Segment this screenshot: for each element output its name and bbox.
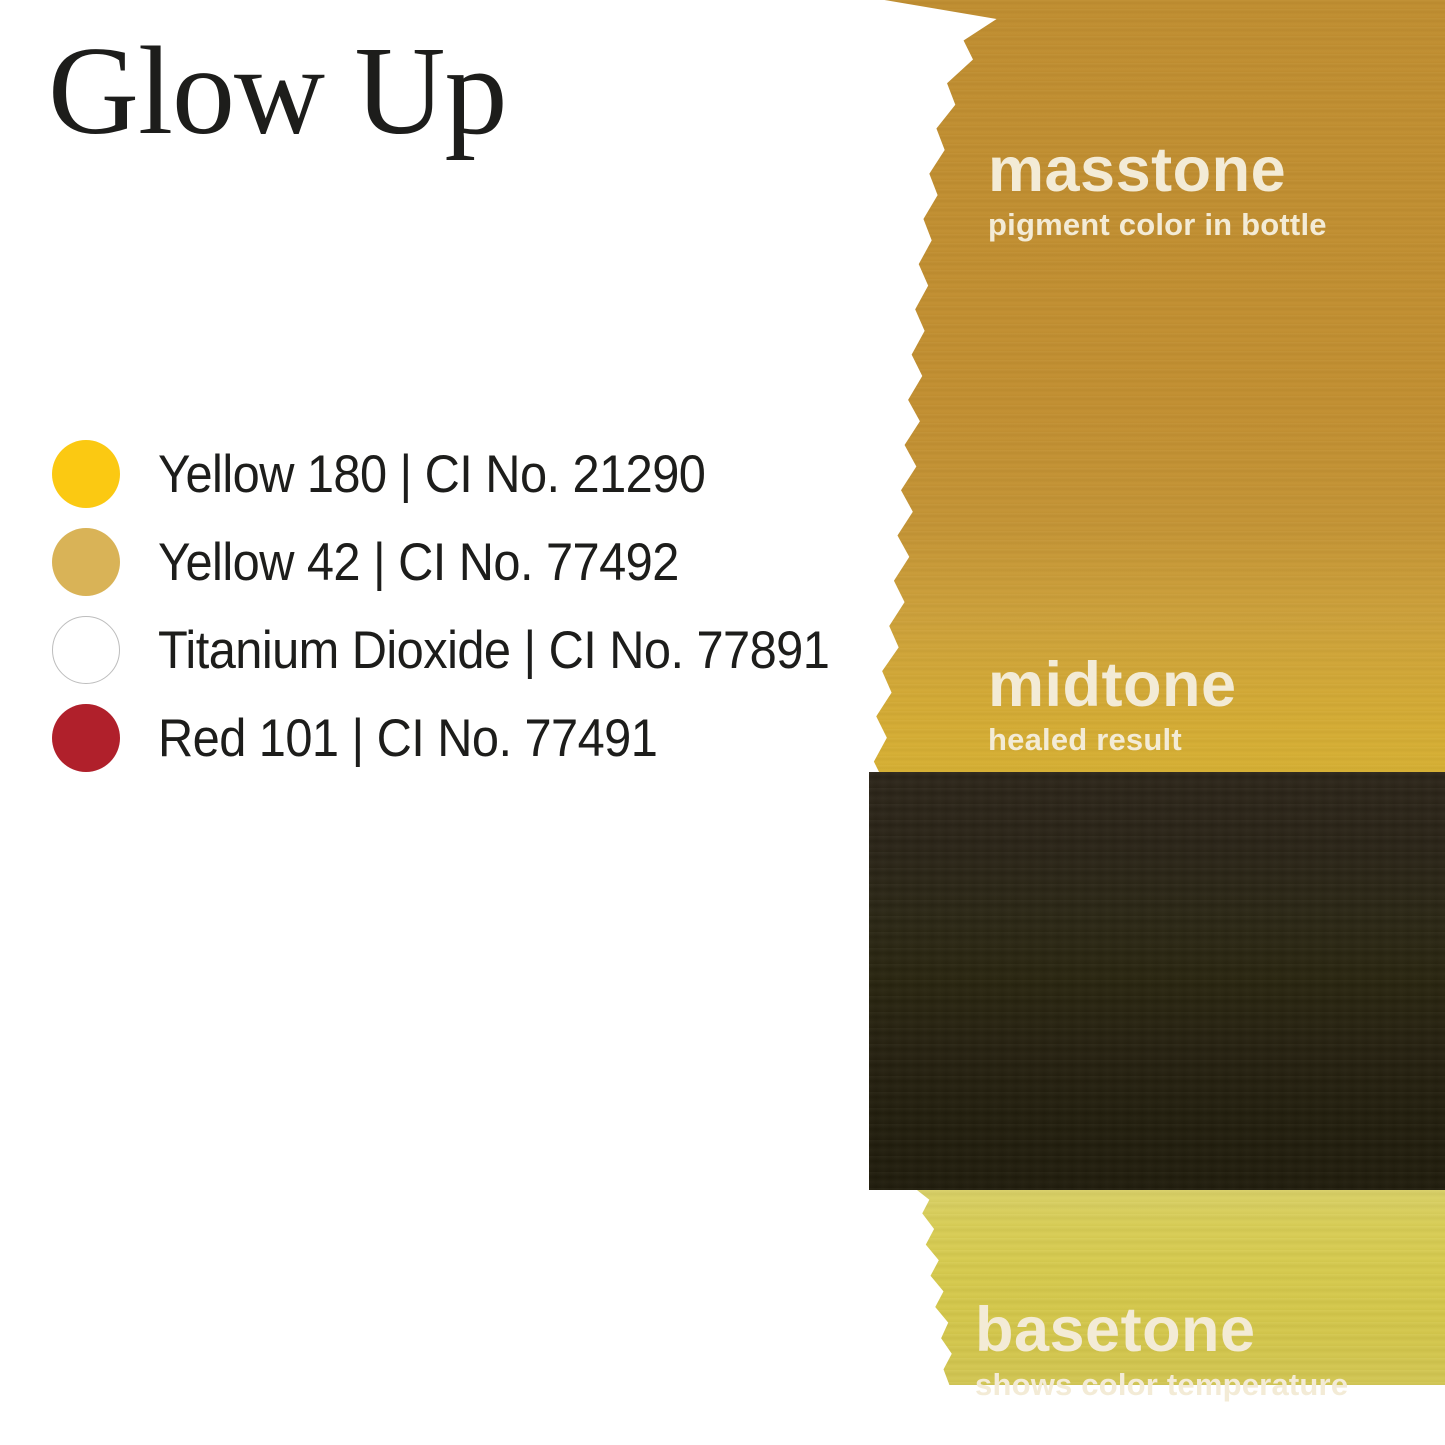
pigment-row: Yellow 180 | CI No. 21290 — [52, 430, 852, 518]
dark-basetone-square — [869, 772, 1445, 1190]
pigment-label: Yellow 42 | CI No. 77492 — [158, 536, 679, 589]
masstone-label-group: masstone pigment color in bottle — [988, 140, 1327, 243]
pigment-row: Titanium Dioxide | CI No. 77891 — [52, 606, 852, 694]
pigment-label: Yellow 180 | CI No. 21290 — [158, 448, 705, 501]
basetone-label-group: basetone shows color temperature — [975, 1300, 1348, 1403]
pigment-dot-yellow-42 — [52, 528, 120, 596]
basetone-title: basetone — [975, 1300, 1348, 1360]
pigment-dot-titanium-dioxide — [52, 616, 120, 684]
pigment-label: Red 101 | CI No. 77491 — [158, 712, 657, 765]
pigment-label: Titanium Dioxide | CI No. 77891 — [158, 624, 829, 677]
masstone-title: masstone — [988, 140, 1327, 200]
left-panel: Glow Up Yellow 180 | CI No. 21290Yellow … — [0, 0, 860, 1445]
midtone-title: midtone — [988, 655, 1237, 715]
pigment-dot-red-101 — [52, 704, 120, 772]
pigment-row: Red 101 | CI No. 77491 — [52, 694, 852, 782]
pigment-dot-yellow-180 — [52, 440, 120, 508]
pigment-list: Yellow 180 | CI No. 21290Yellow 42 | CI … — [52, 430, 852, 782]
basetone-subtitle: shows color temperature — [975, 1368, 1348, 1402]
masstone-subtitle: pigment color in bottle — [988, 208, 1327, 242]
pigment-row: Yellow 42 | CI No. 77492 — [52, 518, 852, 606]
pigment-info-card: Glow Up Yellow 180 | CI No. 21290Yellow … — [0, 0, 1445, 1445]
page-title: Glow Up — [48, 28, 507, 157]
midtone-label-group: midtone healed result — [988, 655, 1237, 758]
midtone-subtitle: healed result — [988, 723, 1237, 757]
